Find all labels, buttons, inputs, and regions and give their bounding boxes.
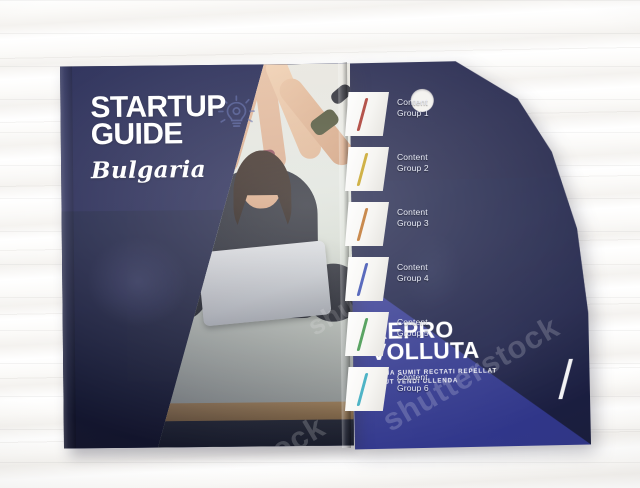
tab-label: Content Group 4	[397, 262, 429, 284]
tab-label-line2: Group 5	[397, 328, 429, 339]
tab-label-line1: Content	[397, 317, 429, 328]
tab-label-line2: Group 6	[397, 383, 429, 394]
index-tab[interactable]: Content Group 4	[345, 257, 457, 312]
mockup-scene: REPRO VOLLUTA SQUIA SUMIT RECTATI REPELL…	[0, 0, 640, 488]
tab-label-line1: Content	[397, 372, 429, 383]
tab-color-slash	[357, 263, 369, 296]
tab-label-line1: Content	[397, 97, 429, 108]
tab-paper-shape	[345, 312, 389, 356]
index-tab[interactable]: Content Group 1	[345, 92, 457, 147]
tab-label: Content Group 2	[397, 152, 429, 174]
tab-color-slash	[357, 318, 369, 351]
tab-label-line2: Group 4	[397, 273, 429, 284]
tab-label: Content Group 3	[397, 207, 429, 229]
tab-paper-shape	[345, 257, 389, 301]
index-tab[interactable]: Content Group 3	[345, 202, 457, 257]
tab-label-line2: Group 3	[397, 218, 429, 229]
tab-paper-shape	[345, 92, 389, 136]
cover-script-word: Bulgaria	[91, 155, 281, 184]
brochure-cover: STARTUP GUIDE Bulgaria shutterstock shut…	[60, 63, 354, 448]
tab-label: Content Group 5	[397, 317, 429, 339]
cover-title-line2: GUIDE	[91, 119, 281, 148]
tab-label: Content Group 6	[397, 372, 429, 394]
index-tab-list: Content Group 1 Content Group 2 Content …	[345, 92, 457, 422]
tab-label: Content Group 1	[397, 97, 429, 119]
tab-paper-shape	[345, 202, 389, 246]
tab-paper-shape	[345, 367, 389, 411]
tab-label-line1: Content	[397, 152, 429, 163]
tab-color-slash	[357, 208, 369, 241]
index-tab[interactable]: Content Group 2	[345, 147, 457, 202]
tab-paper-shape	[345, 147, 389, 191]
tab-label-line1: Content	[397, 262, 429, 273]
tab-label-line2: Group 2	[397, 163, 429, 174]
tab-color-slash	[357, 98, 369, 131]
tab-color-slash	[357, 373, 369, 406]
index-tab[interactable]: Content Group 6	[345, 367, 457, 422]
tab-label-line2: Group 1	[397, 108, 429, 119]
cover-title-line1: STARTUP	[90, 92, 280, 121]
cover-headline: STARTUP GUIDE Bulgaria	[90, 92, 281, 184]
tab-label-line1: Content	[397, 207, 429, 218]
tab-color-slash	[357, 153, 369, 186]
index-tab[interactable]: Content Group 5	[345, 312, 457, 367]
